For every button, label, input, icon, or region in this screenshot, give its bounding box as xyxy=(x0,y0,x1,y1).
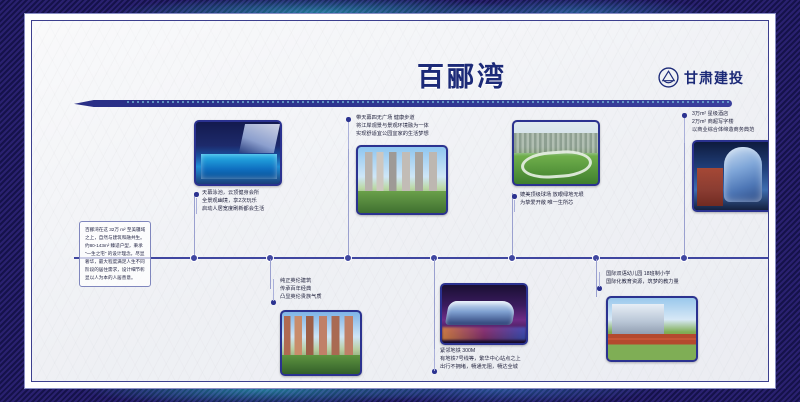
card-golf-thumb[interactable] xyxy=(512,120,600,186)
intro-description-box: 百郦湾在这 32万 m² 至美疆域之上，自然与建筑和融共生。 约80-143m²… xyxy=(79,221,151,287)
card-hotel-rule xyxy=(684,119,685,143)
card-pool-caption: 天幕泳池，云顶健身会所 全景观幽境，享2次玩乐 启动人居宽度刷新都会生活 xyxy=(202,189,302,213)
card-architecture-caption: 纯正英伦建筑 传承百年经典 凸显英伦贵族气质 xyxy=(280,277,380,301)
school-campus-track-photo xyxy=(608,298,696,360)
card-plaza-thumb[interactable] xyxy=(356,145,448,215)
timeline-stem-1 xyxy=(194,193,195,255)
card-school-thumb[interactable] xyxy=(606,296,698,362)
header-divider xyxy=(74,100,732,107)
poster-frame-inner: 百郦湾 甘肃建投 xyxy=(31,20,769,382)
indoor-swimming-pool-photo xyxy=(196,122,280,184)
card-metro-rule xyxy=(434,349,435,371)
poster-frame-outer: 百郦湾 甘肃建投 xyxy=(24,13,776,389)
timeline-stem-2 xyxy=(270,259,271,289)
card-pool[interactable]: 天幕泳池，云顶健身会所 全景观幽境，享2次玩乐 启动人居宽度刷新都会生活 xyxy=(194,120,282,186)
card-school-caption: 国际双语幼儿园 18班制小学 国际化教育资源，筑梦的教力量 xyxy=(606,270,718,286)
card-architecture-thumb[interactable] xyxy=(280,310,362,376)
card-golf-rule xyxy=(514,200,515,212)
card-pool-rule xyxy=(196,198,197,214)
brand-logo-text: 甘肃建投 xyxy=(684,68,744,88)
timeline-axis xyxy=(74,257,769,259)
timeline-stem-5 xyxy=(512,193,513,255)
high-speed-train-photo xyxy=(442,285,526,343)
card-golf[interactable]: 媲美顶级球场 放眼绿地无垠 为挚爱开敞 唯一生所芯 xyxy=(512,120,600,186)
card-golf-caption: 媲美顶级球场 放眼绿地无垠 为挚爱开敞 唯一生所芯 xyxy=(520,191,624,207)
card-plaza-rule xyxy=(348,123,349,149)
card-architecture-rule xyxy=(273,279,274,301)
card-school-rule xyxy=(599,272,600,287)
brand-logo: 甘肃建投 xyxy=(658,67,744,88)
gansu-jiantou-emblem-icon xyxy=(658,67,679,88)
british-style-residences-photo xyxy=(282,312,360,374)
card-hotel-caption: 3万m² 星级酒店 2万m² 商超写字楼 以商业综合体缔造商务典范 xyxy=(692,110,769,134)
timeline-stem-6 xyxy=(596,259,597,297)
glass-commercial-tower-photo xyxy=(694,142,769,210)
page-title: 百郦湾 xyxy=(372,55,552,94)
card-hotel-bullet xyxy=(682,113,687,118)
card-pool-thumb[interactable] xyxy=(194,120,282,186)
card-golf-bullet xyxy=(512,194,517,199)
card-pool-bullet xyxy=(194,192,199,197)
intro-description-text: 百郦湾在这 32万 m² 至美疆域之上，自然与建筑和融共生。 约80-143m²… xyxy=(85,226,146,282)
golf-course-green-photo xyxy=(514,122,598,184)
timeline-stem-4 xyxy=(434,259,435,351)
poster-root: 百郦湾 甘肃建投 xyxy=(0,0,800,402)
card-hotel-thumb[interactable] xyxy=(692,140,769,212)
card-metro-thumb[interactable] xyxy=(440,283,528,345)
card-metro-caption: 紧邻地铁 300M 有地铁7号线等，繁华中心站点之上 出行不拥堵，畅通无阻，畅达… xyxy=(440,347,552,371)
residential-towers-park-photo xyxy=(358,147,446,213)
card-plaza-caption: 带天幕四无广场 健康步道 将江岸观景与景观环境融为一体 实现舒适宜公园宜家的生活… xyxy=(356,114,460,138)
card-plaza-bullet xyxy=(346,117,351,122)
poster-stage: 百郦湾 甘肃建投 xyxy=(32,21,768,381)
